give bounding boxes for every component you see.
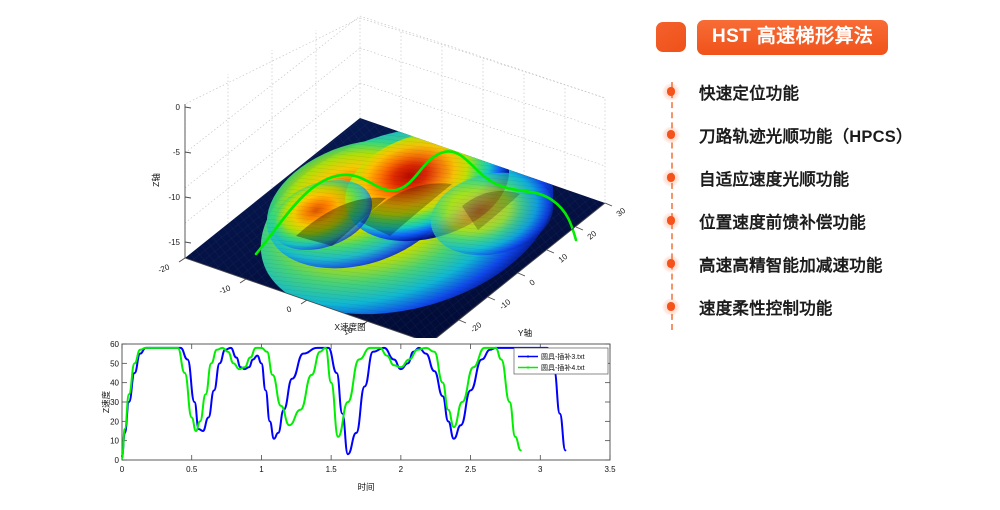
velocity-axis-label: Z速度 (101, 390, 111, 413)
x-axis-label: X速度图 (334, 322, 365, 332)
x-tick-label-0: 0 (120, 465, 125, 474)
brand-header: HST 高速梯形算法 (656, 20, 888, 55)
bullet-icon (661, 125, 681, 145)
y-tick-label-0: 0 (115, 456, 120, 465)
y-tick-label-1: 10 (110, 437, 119, 446)
features-panel: HST 高速梯形算法 快速定位功能 刀路轨迹光顺功能（HPCS） (640, 0, 1000, 510)
figure-panel: 0 -5 -10 -15 Z轴 -20 -10 0 (0, 0, 640, 510)
feature-label-3: 自适应速度光顺功能 (699, 166, 849, 190)
x-tick-label-4: 2 (399, 465, 404, 474)
y-tick-label-4: 40 (110, 379, 119, 388)
feature-label-2: 刀路轨迹光顺功能（HPCS） (699, 123, 913, 147)
legend-label-series-1: 圆具-插补3.txt (541, 352, 585, 361)
x-tick-label-6: 3 (538, 465, 543, 474)
x-tick-label-7: 3.5 (604, 465, 616, 474)
x-tick-label-5: 2.5 (465, 465, 477, 474)
feature-item-6[interactable]: 速度柔性控制功能 (640, 285, 1000, 328)
velocity-time-chart-svg: 0102030405060 00.511.522.533.5 时间 Z速度 圆具… (100, 338, 620, 498)
brand-title: HST 高速梯形算法 (697, 20, 888, 55)
z-tick-2: -10 (168, 193, 180, 202)
x-tick-0: -20 (157, 262, 172, 275)
x-tick-2: 0 (285, 304, 293, 314)
feature-label-5: 高速高精智能加减速功能 (699, 252, 883, 276)
legend-marker-blue (527, 355, 529, 357)
bullet-icon (661, 211, 681, 231)
feature-label-6: 速度柔性控制功能 (699, 295, 833, 319)
brand-square-icon (656, 22, 686, 52)
chart-legend[interactable]: 圆具-插补3.txt 圆具-插补4.txt (514, 348, 608, 374)
feature-item-4[interactable]: 位置速度前馈补偿功能 (640, 199, 1000, 242)
y-tick-1: -20 (469, 320, 484, 335)
x-tick-label-2: 1 (259, 465, 264, 474)
y-tick-label-3: 30 (110, 398, 119, 407)
x-tick-label-3: 1.5 (326, 465, 338, 474)
legend-marker-green (527, 366, 529, 368)
bullet-icon (661, 297, 681, 317)
z-axis-label: Z轴 (151, 173, 161, 187)
bullet-icon (661, 82, 681, 102)
surface-mesh (239, 94, 576, 338)
z-tick-0: 0 (176, 103, 181, 112)
feature-label-1: 快速定位功能 (699, 80, 799, 104)
x-tick-1: -10 (218, 283, 233, 296)
y-tick-5: 20 (586, 229, 599, 242)
time-axis-label: 时间 (357, 482, 374, 492)
feature-item-3[interactable]: 自适应速度光顺功能 (640, 156, 1000, 199)
feature-item-5[interactable]: 高速高精智能加减速功能 (640, 242, 1000, 285)
y-tick-label-5: 50 (110, 359, 119, 368)
surface-plot-3d: 0 -5 -10 -15 Z轴 -20 -10 0 (60, 8, 630, 338)
z-tick-1: -5 (173, 148, 181, 157)
bullet-icon (661, 168, 681, 188)
z-tick-3: -15 (168, 238, 180, 247)
y-tick-6: 30 (615, 206, 628, 219)
x-tick-label-1: 0.5 (186, 465, 198, 474)
y-tick-label-2: 20 (110, 417, 119, 426)
slide-root: 0 -5 -10 -15 Z轴 -20 -10 0 (0, 0, 1000, 510)
z-axis: 0 -5 -10 -15 Z轴 (151, 103, 191, 258)
y-axis-label: Y轴 (518, 328, 532, 338)
surface-plot-svg: 0 -5 -10 -15 Z轴 -20 -10 0 (60, 8, 630, 338)
bullet-icon (661, 254, 681, 274)
velocity-time-chart: 0102030405060 00.511.522.533.5 时间 Z速度 圆具… (100, 338, 620, 498)
feature-list: 快速定位功能 刀路轨迹光顺功能（HPCS） 自适应速度光顺功能 位置速度前馈补偿… (640, 70, 1000, 328)
y-tick-2: -10 (498, 297, 513, 312)
y-tick-4: 10 (557, 252, 570, 265)
legend-label-series-2: 圆具-插补4.txt (541, 363, 585, 372)
y-tick-label-6: 60 (110, 340, 119, 349)
feature-item-1[interactable]: 快速定位功能 (640, 70, 1000, 113)
feature-label-4: 位置速度前馈补偿功能 (699, 209, 866, 233)
feature-item-2[interactable]: 刀路轨迹光顺功能（HPCS） (640, 113, 1000, 156)
y-tick-3: 0 (528, 277, 537, 287)
